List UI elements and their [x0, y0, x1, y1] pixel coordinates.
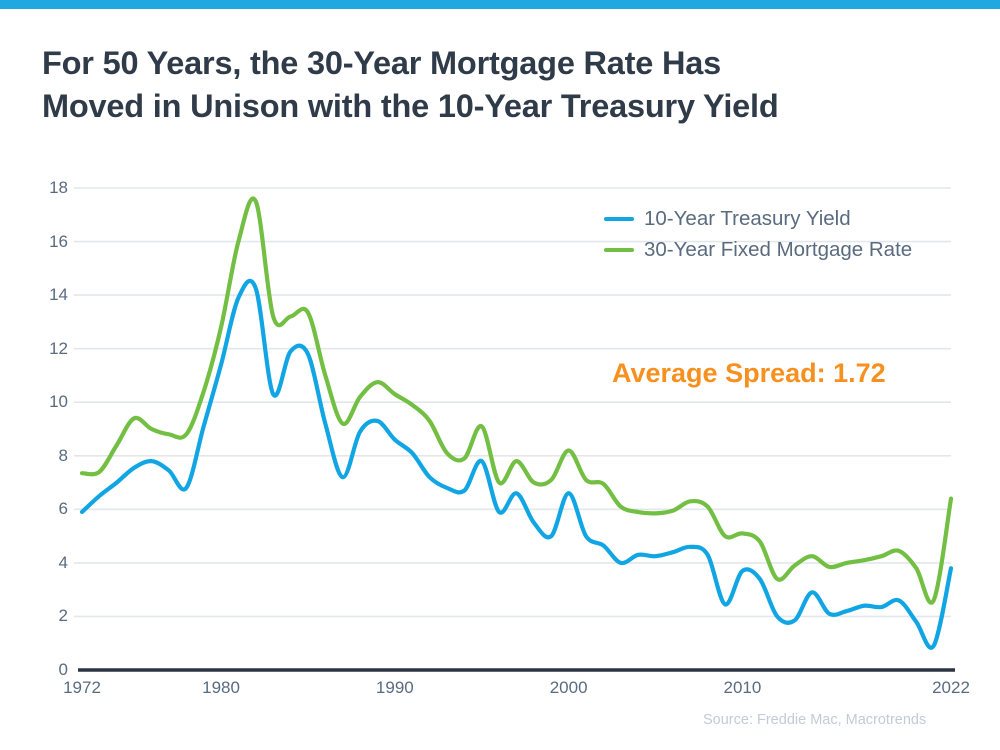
- x-tick-label: 2010: [702, 678, 782, 698]
- chart-page: For 50 Years, the 30-Year Mortgage Rate …: [0, 0, 1000, 750]
- x-tick-label: 1972: [42, 678, 122, 698]
- y-tick-label: 6: [28, 499, 68, 519]
- y-tick-label: 12: [28, 339, 68, 359]
- x-tick-label: 1980: [181, 678, 261, 698]
- y-tick-label: 2: [28, 606, 68, 626]
- series-line-treasury: [82, 281, 951, 648]
- source-note: Source: Freddie Mac, Macrotrends: [703, 712, 926, 728]
- legend-label-mortgage: 30-Year Fixed Mortgage Rate: [644, 238, 912, 262]
- legend-label-treasury: 10-Year Treasury Yield: [644, 207, 851, 231]
- y-tick-label: 10: [28, 392, 68, 412]
- y-tick-label: 0: [28, 660, 68, 680]
- chart-legend: 10-Year Treasury Yield 30-Year Fixed Mor…: [604, 203, 912, 265]
- x-tick-label: 1990: [355, 678, 435, 698]
- y-tick-label: 16: [28, 232, 68, 252]
- average-spread-annotation: Average Spread: 1.72: [612, 358, 886, 389]
- y-tick-label: 8: [28, 446, 68, 466]
- y-tick-label: 4: [28, 553, 68, 573]
- x-tick-label: 2022: [911, 678, 991, 698]
- legend-item-mortgage[interactable]: 30-Year Fixed Mortgage Rate: [604, 234, 912, 265]
- y-tick-label: 14: [28, 285, 68, 305]
- legend-item-treasury[interactable]: 10-Year Treasury Yield: [604, 203, 912, 234]
- x-tick-label: 2000: [529, 678, 609, 698]
- series-lines: [82, 199, 951, 648]
- legend-swatch-treasury: [604, 217, 634, 221]
- legend-swatch-mortgage: [604, 248, 634, 252]
- y-tick-label: 18: [28, 178, 68, 198]
